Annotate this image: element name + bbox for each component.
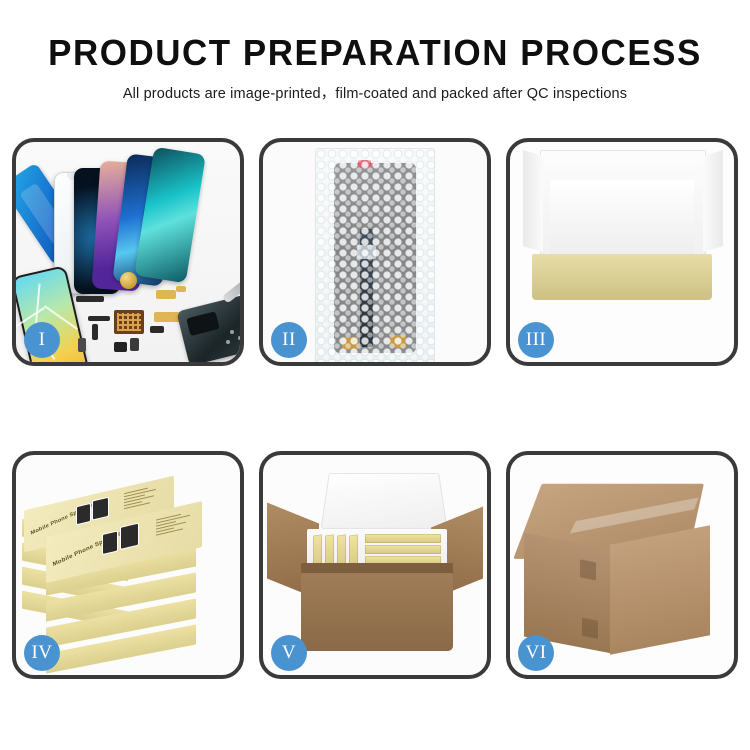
flex-cable-b xyxy=(176,286,186,292)
header: PRODUCT PREPARATION PROCESS All products… xyxy=(0,0,750,103)
step-badge-v: V xyxy=(271,635,307,671)
box-spec-lines-rear xyxy=(124,484,164,511)
sim-tray xyxy=(78,338,86,352)
logic-board xyxy=(114,310,144,334)
inner-box-5 xyxy=(365,534,441,543)
inner-box-6 xyxy=(365,545,441,554)
flex-cable-a xyxy=(156,290,176,299)
step-panel-i: I xyxy=(12,138,244,366)
step-badge-iii: III xyxy=(518,322,554,358)
carton-tab-bottom xyxy=(582,618,598,639)
box-print-label-front: Mobile Phone Spare Parts xyxy=(52,527,130,568)
box-screen-art-front-1 xyxy=(102,530,118,555)
phone-back-housing xyxy=(176,294,240,362)
screw-1 xyxy=(230,330,234,334)
bubble-wrap-bag xyxy=(315,148,435,362)
step-badge-iv: IV xyxy=(24,635,60,671)
loose-components-group xyxy=(70,268,240,362)
product-preparation-infographic: PRODUCT PREPARATION PROCESS All products… xyxy=(0,0,750,750)
carton-tab-top xyxy=(580,559,596,580)
white-foam-sheet xyxy=(550,180,694,260)
step-panel-vi: VI xyxy=(506,451,738,679)
step-panel-iii: III xyxy=(506,138,738,366)
earpiece-mesh xyxy=(76,296,104,302)
step-badge-ii: II xyxy=(271,322,307,358)
vibration-motor xyxy=(130,338,139,351)
screw-2 xyxy=(238,336,240,340)
box-screen-art-rear-1 xyxy=(76,503,91,525)
speaker-unit xyxy=(114,342,127,352)
box-spec-lines-front xyxy=(156,510,196,537)
carton-front-face xyxy=(610,525,710,654)
button-flex xyxy=(92,324,98,340)
step-panel-iv: Mobile Phone Spare Parts Mobile Phone Sp… xyxy=(12,451,244,679)
step-badge-vi: VI xyxy=(518,635,554,671)
step-badge-i: I xyxy=(24,322,60,358)
speaker-module-icon xyxy=(120,272,137,289)
step-panel-ii: II xyxy=(259,138,491,366)
step-panel-v: V xyxy=(259,451,491,679)
process-steps-grid: I II xyxy=(12,138,738,679)
box-screen-art-front-2 xyxy=(120,523,139,550)
page-subtitle: All products are image-printed，film-coat… xyxy=(0,82,750,103)
carton-body xyxy=(301,573,453,651)
flex-cable-c xyxy=(154,312,180,322)
bubble-texture xyxy=(316,149,434,362)
packing-tape xyxy=(570,498,699,534)
box-screen-art-rear-2 xyxy=(92,497,109,521)
page-title: PRODUCT PREPARATION PROCESS xyxy=(11,34,739,72)
antenna-strip xyxy=(88,316,110,321)
open-yellow-box xyxy=(532,254,712,300)
foam-lid xyxy=(321,473,448,529)
screw-3 xyxy=(226,340,230,344)
connector-block xyxy=(150,326,164,333)
